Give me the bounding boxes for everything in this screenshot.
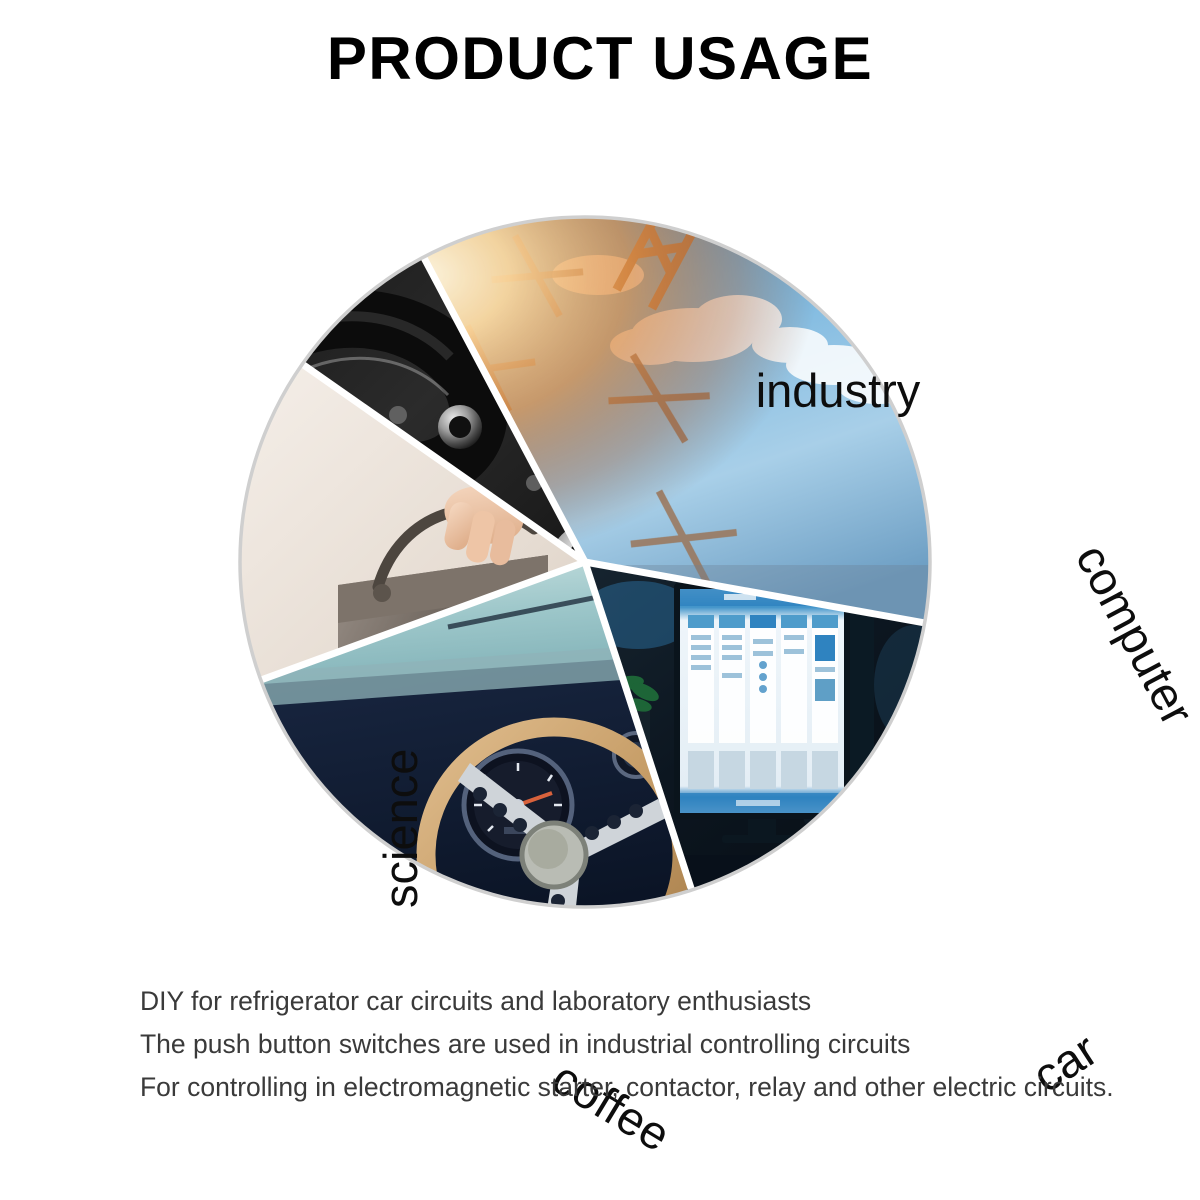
wheel-label-industry: industry	[756, 367, 921, 414]
usage-wheel: industry computer car coffee science	[238, 215, 932, 909]
usage-note-3: For controlling in electromagnetic start…	[140, 1066, 1150, 1109]
wheel-label-computer: computer	[1069, 537, 1200, 732]
usage-note-2: The push button switches are used in ind…	[140, 1023, 1150, 1066]
page-title: PRODUCT USAGE	[0, 26, 1200, 92]
usage-notes: DIY for refrigerator car circuits and la…	[140, 980, 1150, 1109]
usage-note-1: DIY for refrigerator car circuits and la…	[140, 980, 1150, 1023]
usage-wheel-graphic	[238, 215, 932, 909]
wheel-label-science: science	[377, 749, 424, 908]
